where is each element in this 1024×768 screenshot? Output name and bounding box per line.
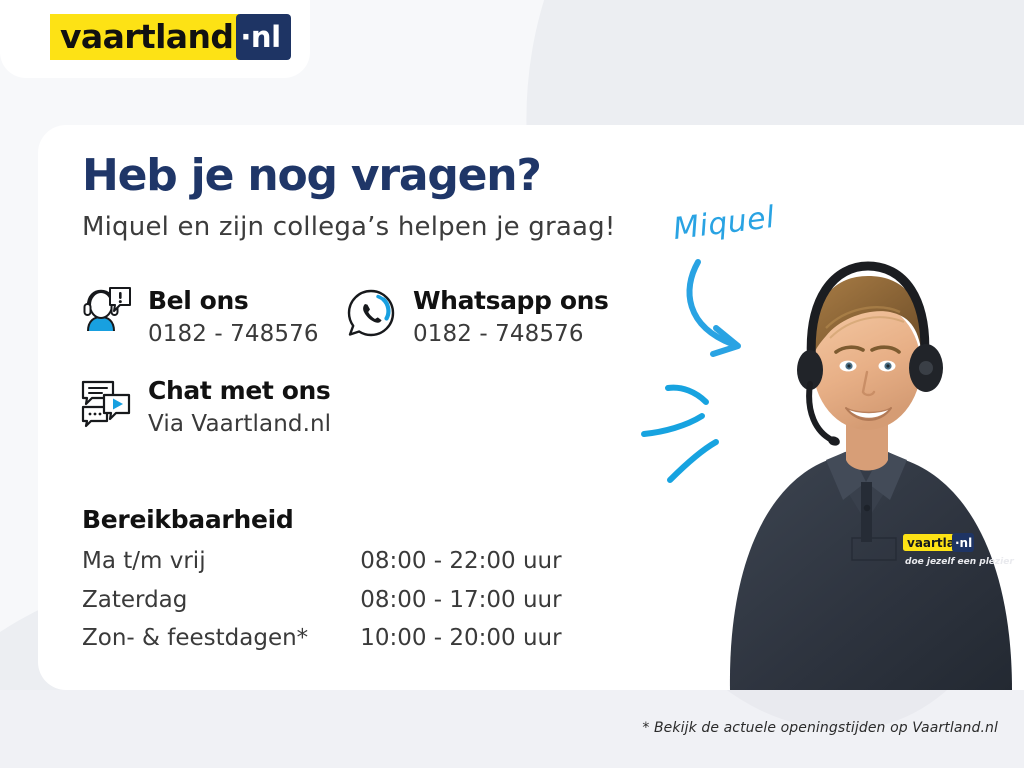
contact-method-chat[interactable]: Chat met ons Via Vaartland.nl: [80, 375, 331, 440]
hours-day: Zaterdag: [82, 587, 360, 626]
contact-title: Whatsapp ons: [413, 287, 609, 316]
contact-value: 0182 - 748576: [148, 319, 319, 350]
contact-method-phone[interactable]: Bel ons 0182 - 748576: [80, 285, 319, 350]
whatsapp-icon: [345, 287, 397, 339]
contact-title: Chat met ons: [148, 377, 331, 406]
hours-day: Ma t/m vrij: [82, 548, 360, 587]
hours-heading: Bereikbaarheid: [82, 505, 293, 534]
svg-text:·nl: ·nl: [955, 536, 972, 550]
hours-time: 08:00 - 22:00 uur: [360, 548, 561, 587]
page-title: Heb je nog vragen?: [82, 150, 541, 201]
support-agent-icon: [80, 287, 132, 339]
brand-logo-card[interactable]: vaartland ·nl: [0, 0, 310, 78]
hours-day: Zon- & feestdagen*: [82, 625, 360, 664]
polo-logo: vaartland ·nl doe jezelf een plezier: [903, 533, 1014, 567]
annotation-marks: [620, 240, 840, 500]
svg-text:doe jezelf een plezier: doe jezelf een plezier: [905, 557, 1014, 567]
table-row: Zon- & feestdagen* 10:00 - 20:00 uur: [82, 625, 562, 664]
table-row: Zaterdag 08:00 - 17:00 uur: [82, 587, 562, 626]
logo-wordmark: vaartland: [50, 14, 239, 60]
chat-bubbles-icon: [80, 377, 132, 429]
contact-value: Via Vaartland.nl: [148, 409, 331, 440]
hours-time: 10:00 - 20:00 uur: [360, 625, 561, 664]
contact-value: 0182 - 748576: [413, 319, 609, 350]
contact-method-whatsapp[interactable]: Whatsapp ons 0182 - 748576: [345, 285, 609, 350]
logo-tld: ·nl: [236, 14, 290, 60]
contact-title: Bel ons: [148, 287, 319, 316]
opening-hours-table: Ma t/m vrij 08:00 - 22:00 uur Zaterdag 0…: [82, 548, 562, 664]
table-row: Ma t/m vrij 08:00 - 22:00 uur: [82, 548, 562, 587]
footnote-text: * Bekijk de actuele openingstijden op Va…: [642, 720, 998, 736]
page-subtitle: Miquel en zijn collega’s helpen je graag…: [82, 212, 615, 242]
vaartland-logo[interactable]: vaartland ·nl: [50, 14, 291, 60]
hours-time: 08:00 - 17:00 uur: [360, 587, 561, 626]
promo-banner: vaartland ·nl doe jezelf een plezier vaa…: [0, 0, 1024, 768]
